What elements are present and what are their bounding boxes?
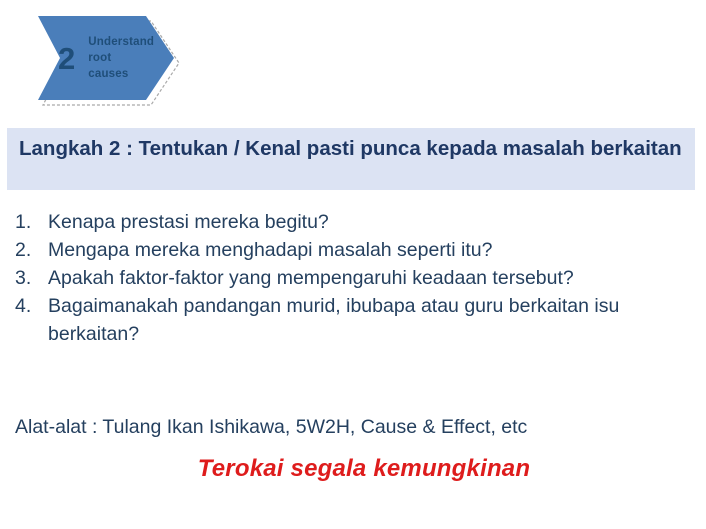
step-number: 2 bbox=[58, 43, 75, 74]
list-item-label: Mengapa mereka menghadapi masalah sepert… bbox=[48, 239, 492, 261]
list-item-label: Apakah faktor-faktor yang mempengaruhi k… bbox=[48, 267, 574, 289]
list-item-number: 1. bbox=[15, 208, 43, 236]
step-marker-content: 2 Understand root causes bbox=[34, 14, 174, 102]
step-caption: Understand root causes bbox=[88, 34, 154, 83]
emphasis-line: Terokai segala kemungkinan bbox=[0, 455, 706, 483]
step-marker-chevron: 2 Understand root causes bbox=[34, 14, 184, 110]
list-item-number: 2. bbox=[15, 236, 43, 264]
list-item: 2.Mengapa mereka menghadapi masalah sepe… bbox=[14, 236, 674, 264]
title-band: Langkah 2 : Tentukan / Kenal pasti punca… bbox=[7, 128, 695, 190]
list-item: 4.Bagaimanakah pandangan murid, ibubapa … bbox=[14, 292, 674, 348]
list-item-number: 4. bbox=[15, 292, 43, 320]
tools-line: Alat-alat : Tulang Ikan Ishikawa, 5W2H, … bbox=[15, 414, 685, 441]
list-item-number: 3. bbox=[15, 264, 43, 292]
page-title: Langkah 2 : Tentukan / Kenal pasti punca… bbox=[19, 135, 683, 162]
list-item: 1.Kenapa prestasi mereka begitu? bbox=[14, 208, 674, 236]
list-item-label: Kenapa prestasi mereka begitu? bbox=[48, 211, 329, 233]
list-item: 3.Apakah faktor-faktor yang mempengaruhi… bbox=[14, 264, 674, 292]
list-item-label: Bagaimanakah pandangan murid, ibubapa at… bbox=[48, 295, 619, 345]
question-list: 1.Kenapa prestasi mereka begitu?2.Mengap… bbox=[14, 208, 674, 348]
